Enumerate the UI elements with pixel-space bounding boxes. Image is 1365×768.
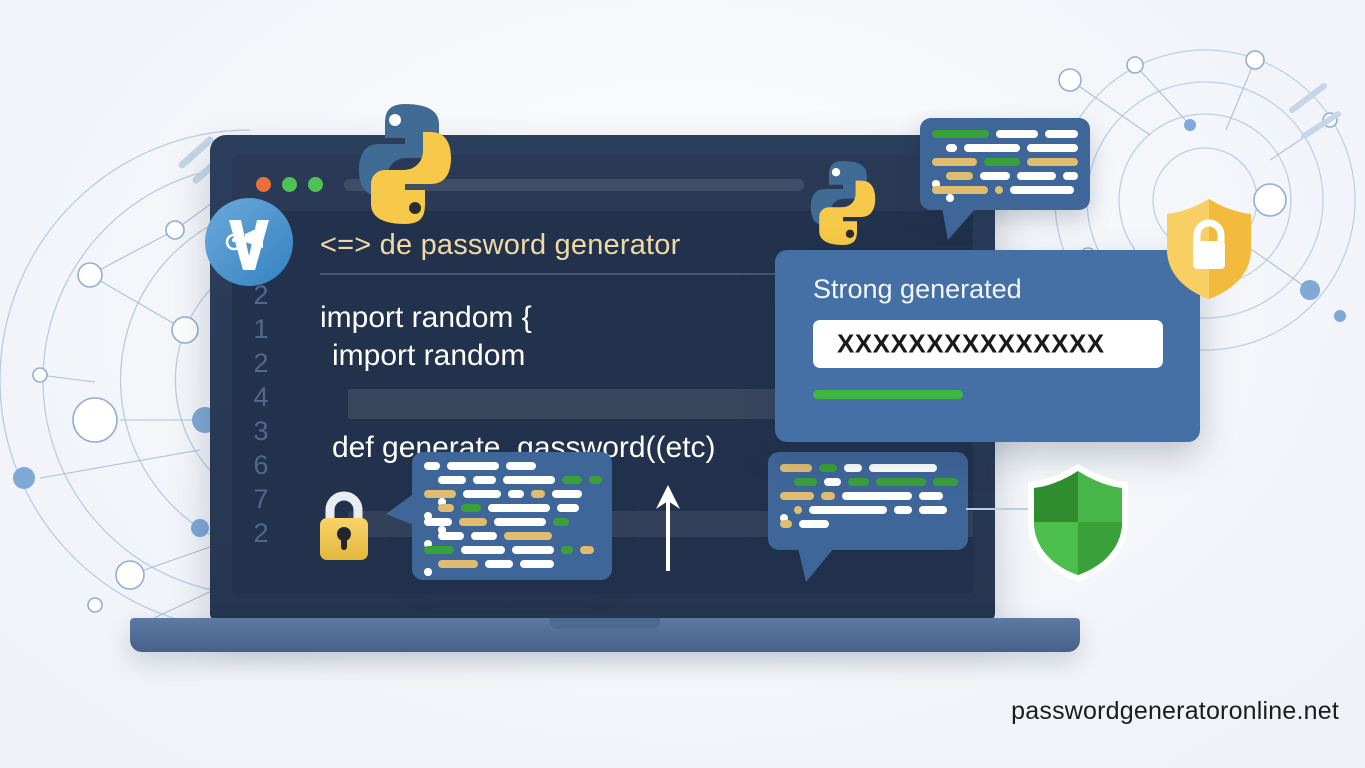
password-value: XXXXXXXXXXXXXXX <box>837 329 1105 360</box>
code-bubble-segment <box>824 478 841 486</box>
code-bubble-row <box>780 506 958 514</box>
code-bubble-row <box>424 504 602 512</box>
code-bubble-segment <box>520 560 554 568</box>
code-bubble-segment <box>561 546 573 554</box>
illustration-canvas: <=> de password generator import random … <box>0 0 1365 768</box>
code-bubble-segment <box>1010 186 1074 194</box>
line-number: 2 <box>253 346 268 380</box>
code-bubble-segment <box>424 518 452 526</box>
code-bubble-segment <box>946 144 957 152</box>
code-bubble-segment <box>553 518 569 526</box>
code-bubble-segment <box>459 518 487 526</box>
code-bubble-segment <box>485 560 513 568</box>
python-logo-icon <box>808 158 878 248</box>
code-bubble-segment <box>512 546 554 554</box>
code-bubble-segment <box>557 504 579 512</box>
code-bubble-segment <box>424 462 440 470</box>
code-bubble-segment <box>1027 144 1078 152</box>
line-number: 4 <box>253 380 268 414</box>
code-bubble-segment <box>794 506 802 514</box>
code-bubble-segment <box>1017 172 1055 180</box>
code-bubble-segment <box>438 560 478 568</box>
code-bubble-segment <box>794 478 817 486</box>
code-bubble-segment <box>946 172 973 180</box>
code-bubble-segment <box>932 186 988 194</box>
line-number: 2 <box>253 516 268 550</box>
code-bubble-segment <box>562 476 582 484</box>
code-bubble-row <box>424 560 602 568</box>
panel-heading: Strong generated <box>813 274 1022 305</box>
maximize-icon[interactable] <box>308 177 323 192</box>
line-number: 6 <box>253 448 268 482</box>
code-bubble-segment <box>842 492 912 500</box>
code-bubble-segment <box>780 464 812 472</box>
password-result-panel: Strong generated XXXXXXXXXXXXXXX <box>775 250 1200 442</box>
code-bubble-row <box>424 518 602 526</box>
code-bubble-row <box>932 172 1078 180</box>
code-bubble-segment <box>932 158 977 166</box>
code-bubble-row <box>780 478 958 486</box>
code-bubble-segment <box>506 462 536 470</box>
vscode-v-badge-icon <box>205 198 293 286</box>
code-bubble-segment <box>461 504 481 512</box>
code-bubble-segment <box>819 464 837 472</box>
code-bubble-segment <box>799 520 829 528</box>
trackpad-notch <box>550 618 660 629</box>
code-bubble-segment <box>848 478 869 486</box>
code-bubble-segment <box>473 476 497 484</box>
code-bubble-segment <box>996 130 1037 138</box>
code-bubble-segment <box>946 194 954 202</box>
code-bubble-segment <box>964 144 1020 152</box>
code-bubble-row <box>424 546 602 554</box>
padlock-icon <box>312 486 376 564</box>
code-bubble-segment <box>894 506 912 514</box>
code-bubble-row <box>932 158 1078 166</box>
connector-line <box>966 508 1028 510</box>
code-bubble-segment <box>552 490 582 498</box>
code-line-import-1: import random { <box>320 301 532 335</box>
code-bubble-segment <box>531 490 545 498</box>
code-bubble-segment <box>471 532 497 540</box>
code-bubble-row <box>780 492 958 500</box>
code-bubble-segment <box>504 532 552 540</box>
code-bubble-top-right <box>920 118 1090 210</box>
code-bubble-segment <box>919 506 947 514</box>
code-bubble-segment <box>424 490 456 498</box>
code-bubble-segment <box>589 476 602 484</box>
code-bubble-segment <box>933 478 958 486</box>
code-bubble-segment <box>463 490 501 498</box>
code-bubble-segment <box>980 172 1011 180</box>
code-bubble-segment <box>919 492 943 500</box>
editor-tab-title: <=> de password generator <box>320 229 681 262</box>
code-bubble-row <box>932 130 1078 138</box>
code-bubble-segment <box>780 520 792 528</box>
code-bubble-segment <box>1027 158 1078 166</box>
password-strength-meter <box>813 390 963 399</box>
code-bubble-bottom-right <box>768 452 968 550</box>
code-bubble-segment <box>995 186 1003 194</box>
watermark-url: passwordgeneratoronline.net <box>1011 697 1339 726</box>
code-bubble-segment <box>780 492 814 500</box>
code-bubble-row <box>424 476 602 484</box>
code-bubble-segment <box>844 464 862 472</box>
code-bubble-row <box>424 490 602 498</box>
shield-lock-icon <box>1163 197 1255 301</box>
code-bubble-segment <box>424 568 432 576</box>
code-bubble-row <box>424 462 602 470</box>
code-bubble-bottom-left <box>412 452 612 580</box>
python-logo-icon <box>355 100 455 228</box>
code-bubble-segment <box>488 504 550 512</box>
code-bubble-row <box>780 464 958 472</box>
password-input[interactable]: XXXXXXXXXXXXXXX <box>813 320 1163 368</box>
code-bubble-segment <box>494 518 546 526</box>
code-bubble-segment <box>447 462 499 470</box>
code-bubble-row <box>424 532 602 540</box>
code-bubble-row <box>932 144 1078 152</box>
code-bubble-segment <box>1045 130 1079 138</box>
line-number: 1 <box>253 312 268 346</box>
code-bubble-segment <box>821 492 835 500</box>
code-bubble-segment <box>809 506 887 514</box>
laptop-base <box>130 618 1080 652</box>
line-number: 2 <box>253 278 268 312</box>
code-bubble-segment <box>503 476 554 484</box>
line-number: 3 <box>253 414 268 448</box>
minimize-icon[interactable] <box>282 177 297 192</box>
gutter-number-stack: 2 1 2 4 3 6 7 2 <box>232 278 290 578</box>
arrow-up-icon <box>640 481 694 573</box>
code-bubble-row <box>932 186 1078 194</box>
code-bubble-segment <box>869 464 937 472</box>
code-bubble-segment <box>1063 172 1078 180</box>
code-bubble-row <box>780 520 958 528</box>
code-bubble-segment <box>424 546 454 554</box>
code-bubble-segment <box>984 158 1019 166</box>
code-bubble-segment <box>876 478 926 486</box>
code-bubble-segment <box>438 476 466 484</box>
line-number: 7 <box>253 482 268 516</box>
code-bubble-segment <box>438 532 464 540</box>
code-bubble-segment <box>932 130 989 138</box>
code-bubble-segment <box>508 490 524 498</box>
close-icon[interactable] <box>256 177 271 192</box>
code-bubble-segment <box>461 546 505 554</box>
shield-icon <box>1024 462 1132 584</box>
code-bubble-segment <box>580 546 594 554</box>
code-bubble-segment <box>438 504 454 512</box>
code-line-import-2: import random <box>332 339 525 373</box>
